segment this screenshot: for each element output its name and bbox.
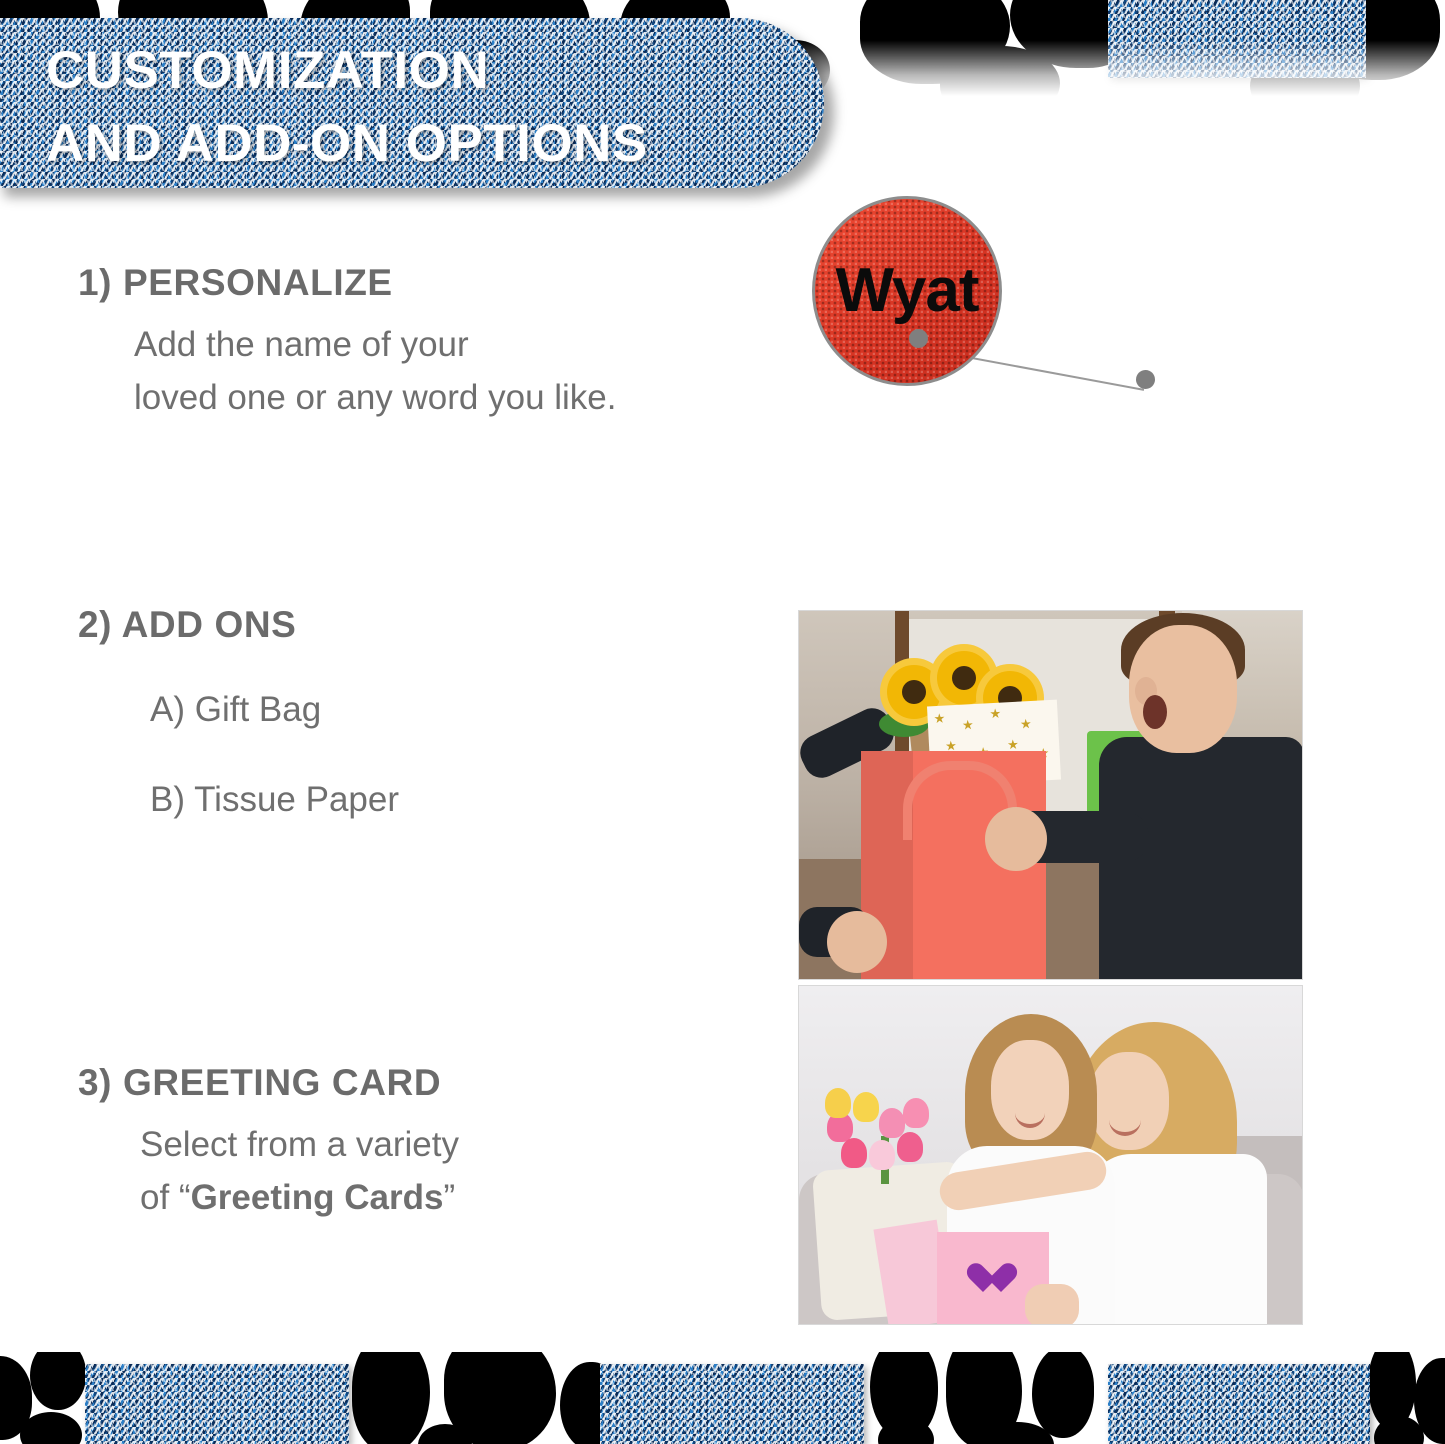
step-3-body-line-1: Select from a variety xyxy=(140,1118,459,1171)
step-1-title: 1) PERSONALIZE xyxy=(78,262,617,304)
page-title: CUSTOMIZATION AND ADD-ON OPTIONS xyxy=(46,34,786,180)
step-1-body: Add the name of your loved one or any wo… xyxy=(134,318,617,424)
step-1-body-line-1: Add the name of your xyxy=(134,318,617,371)
step-3-prefix: of “ xyxy=(140,1178,191,1217)
callout-origin-dot xyxy=(909,329,928,348)
boy-hand xyxy=(985,807,1047,871)
personalization-magnifier-callout: Wyat xyxy=(812,196,1002,386)
callout-target-dot xyxy=(1136,370,1155,389)
giver-hand xyxy=(827,911,887,973)
step-3-greeting-card: 3) GREETING CARD Select from a variety o… xyxy=(78,1062,459,1224)
card-heart-icon xyxy=(975,1264,1009,1294)
boy-open-mouth xyxy=(1143,695,1167,729)
cow-print-panel-2 xyxy=(348,1352,604,1444)
denim-swatch-bottom-1 xyxy=(85,1364,349,1444)
girl-hand xyxy=(1025,1284,1079,1325)
step-3-title: 3) GREETING CARD xyxy=(78,1062,459,1104)
title-line-2: AND ADD-ON OPTIONS xyxy=(46,107,786,180)
step-2-title: 2) ADD ONS xyxy=(78,604,399,646)
magnified-name-text: Wyat xyxy=(815,255,999,326)
denim-swatch-bottom-2 xyxy=(600,1364,864,1444)
step-2-add-ons: 2) ADD ONS A) Gift Bag B) Tissue Paper xyxy=(78,604,399,820)
step-3-body-line-2: of “Greeting Cards” xyxy=(140,1171,459,1224)
add-on-option-gift-bag: A) Gift Bag xyxy=(150,690,399,730)
denim-swatch-bottom-3 xyxy=(1108,1364,1370,1444)
header-banner: CUSTOMIZATION AND ADD-ON OPTIONS xyxy=(0,18,824,188)
add-on-option-tissue-paper: B) Tissue Paper xyxy=(150,780,399,820)
title-line-1: CUSTOMIZATION xyxy=(46,41,489,100)
infographic-canvas: CUSTOMIZATION AND ADD-ON OPTIONS 1) PERS… xyxy=(0,0,1445,1444)
tulip-bouquet xyxy=(823,1078,943,1178)
step-3-quoted-term: Greeting Cards xyxy=(191,1178,444,1217)
step-3-suffix: ” xyxy=(443,1178,455,1217)
bottom-decorative-border xyxy=(0,1352,1445,1444)
cow-print-panel-3 xyxy=(862,1352,1110,1444)
step-1-body-line-2: loved one or any word you like. xyxy=(134,371,617,424)
step-3-body: Select from a variety of “Greeting Cards… xyxy=(140,1118,459,1224)
greeting-card-photo xyxy=(798,985,1303,1325)
step-1-personalize: 1) PERSONALIZE Add the name of your love… xyxy=(78,262,617,424)
cow-print-panel-4 xyxy=(1368,1352,1445,1444)
gift-bag-photo: ★★ ★★ ★★ ★★ ★★ ★★ xyxy=(798,610,1303,980)
cow-print-panel-1 xyxy=(0,1352,88,1444)
